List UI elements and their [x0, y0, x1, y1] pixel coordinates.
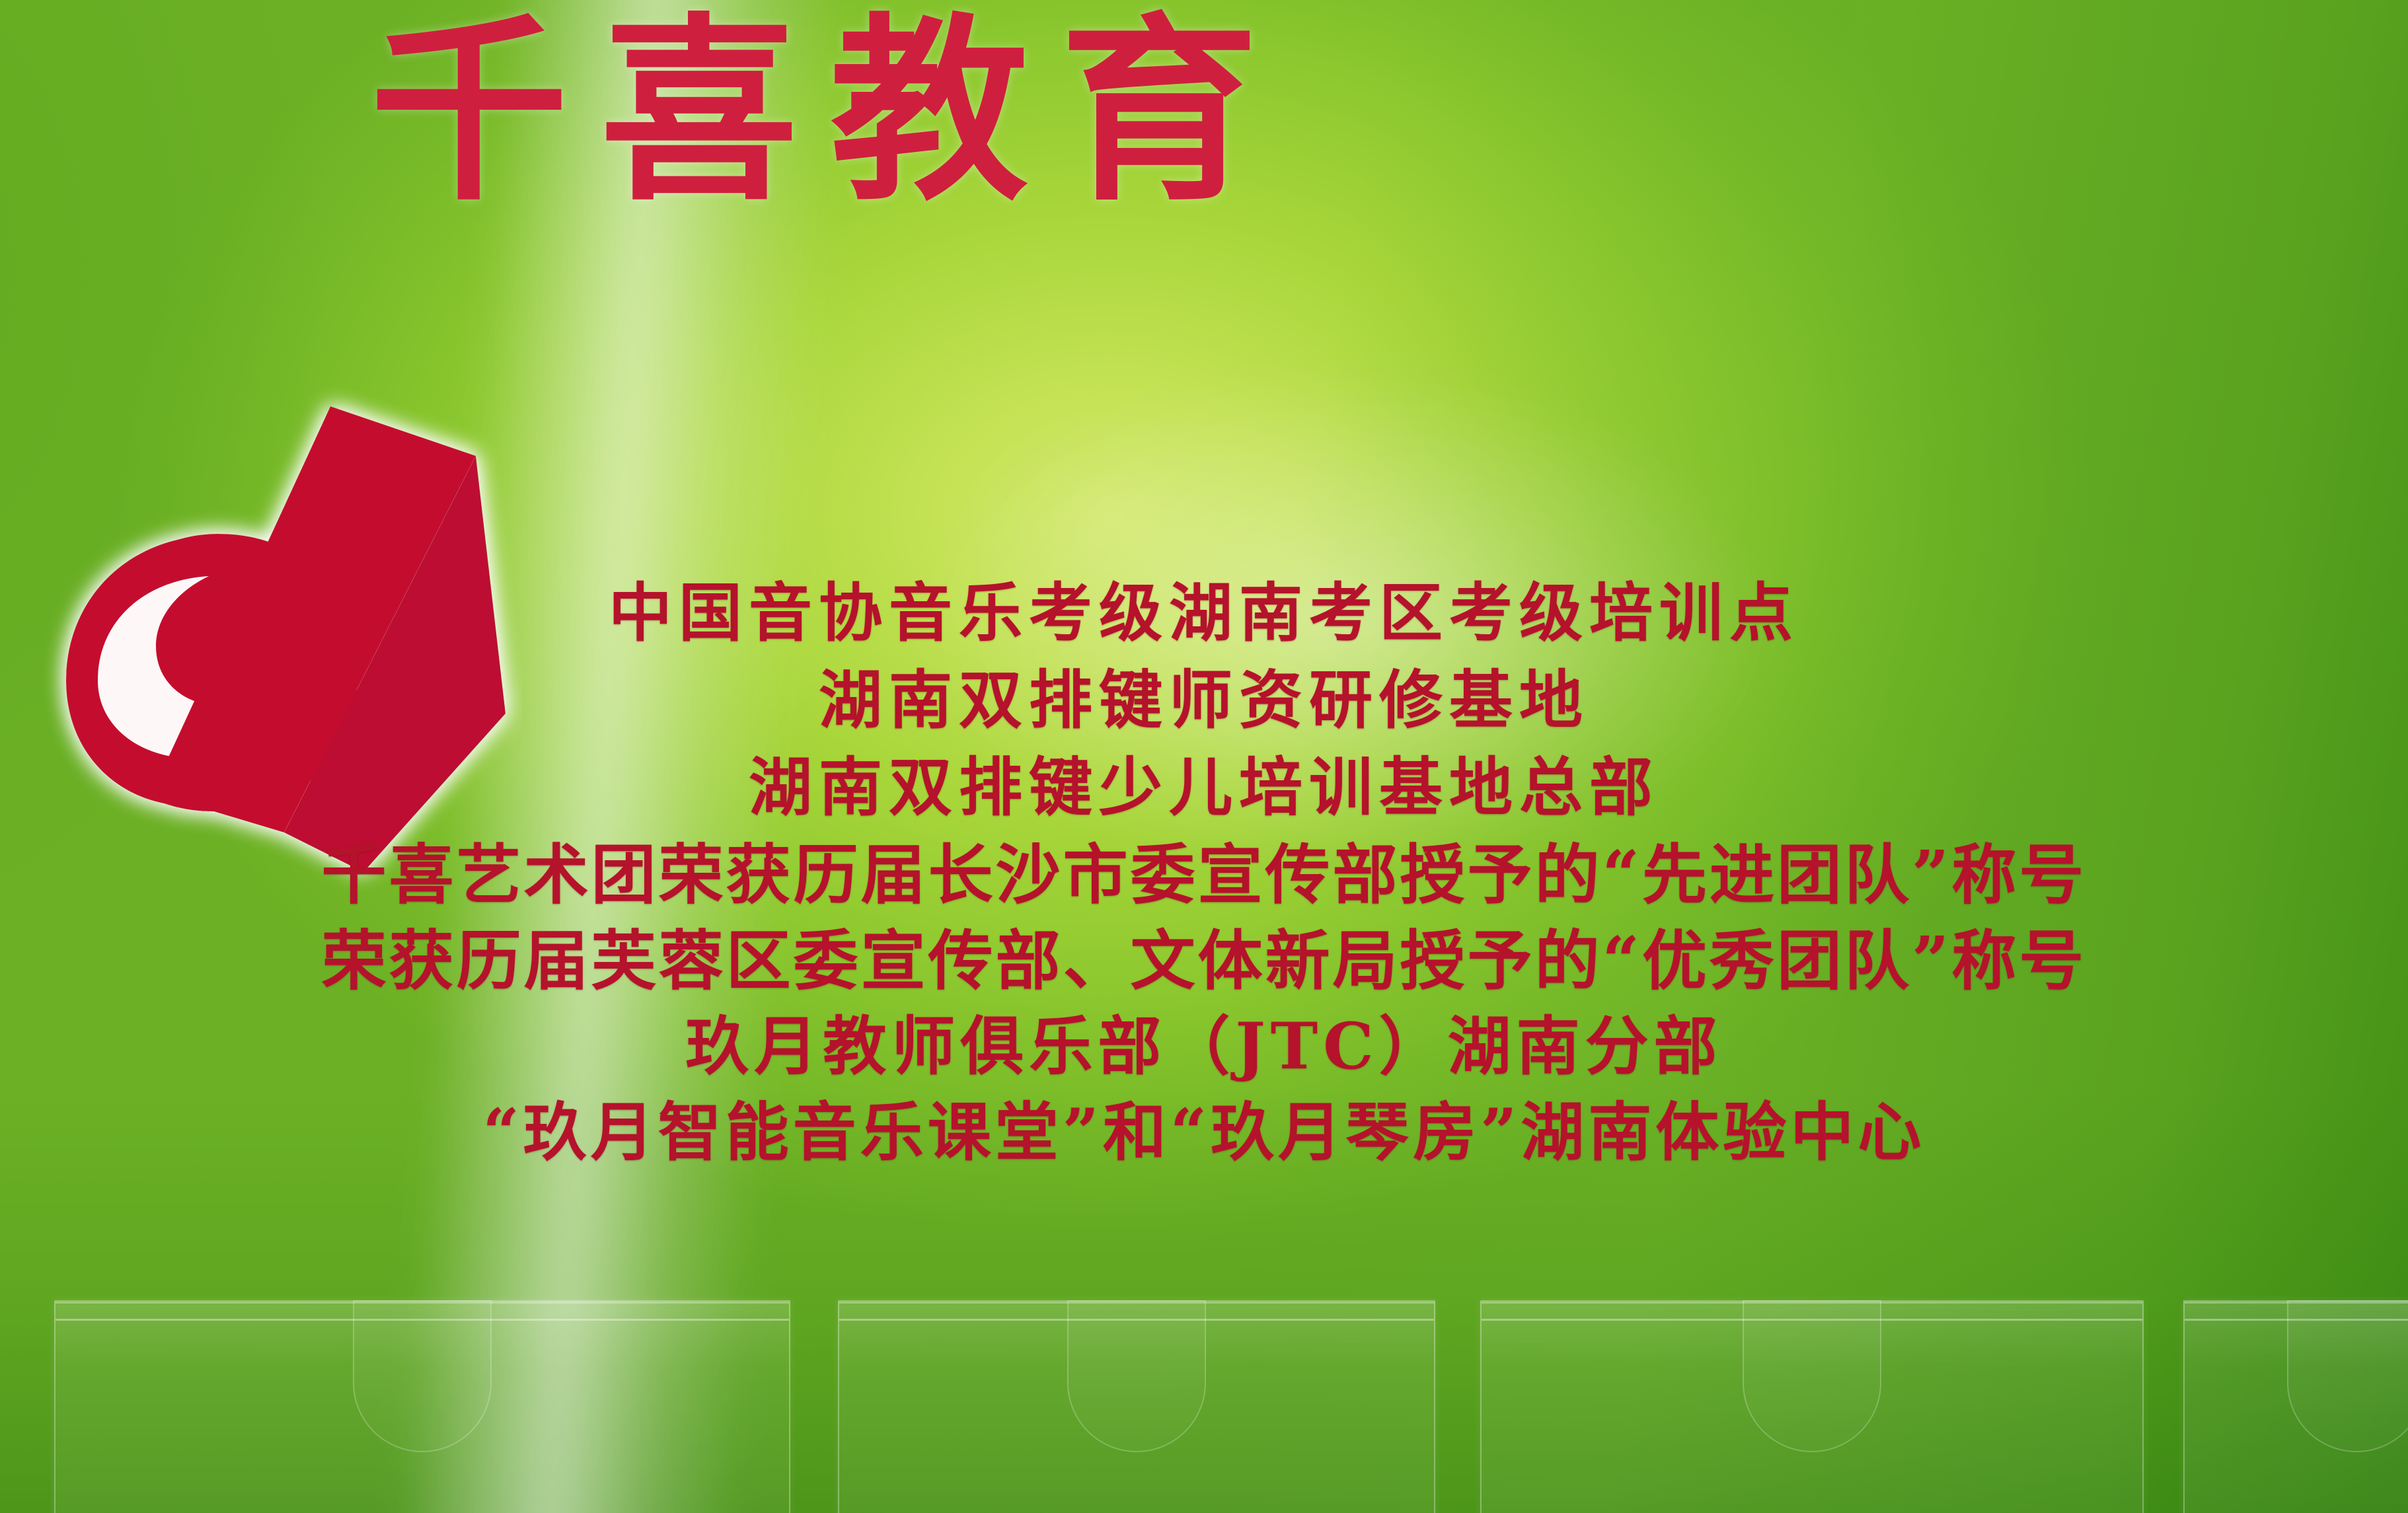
- holder-thumb-notch: [353, 1300, 492, 1452]
- holder-thumb-notch: [1067, 1300, 1206, 1452]
- brochure-holder[interactable]: [1480, 1300, 2144, 1513]
- credential-line: 湖南双排键少儿培训基地总部: [749, 756, 1659, 819]
- brochure-holder[interactable]: [54, 1300, 790, 1513]
- credential-line: 荣获历届芙蓉区委宣传部、文体新局授予的“优秀团队”称号: [322, 929, 2087, 994]
- credential-line: 玖月教师俱乐部（JTC）湖南分部: [685, 1015, 1722, 1078]
- page-title: 千喜教育: [370, 12, 2115, 217]
- credential-list: 中国音协音乐考级湖南考区考级培训点 湖南双排键师资研修基地 湖南双排键少儿培训基…: [0, 581, 2408, 1164]
- signage-photo: 千喜教育 中国音协音乐考级湖南考区考级培训点 湖南双排键师资研修基地 湖南双排键…: [0, 0, 2408, 1513]
- credential-line: 湖南双排键师资研修基地: [819, 669, 1589, 732]
- credential-line: “玖月智能音乐课堂”和“玖月琴房”湖南体验中心: [483, 1101, 1926, 1164]
- holder-thumb-notch: [2287, 1300, 2408, 1452]
- brochure-holder[interactable]: [838, 1300, 1435, 1513]
- brochure-holder-row: [0, 1302, 2408, 1513]
- credential-line: 中国音协音乐考级湖南考区考级培训点: [609, 581, 1799, 645]
- brochure-holder[interactable]: [2183, 1300, 2408, 1513]
- holder-thumb-notch: [1743, 1300, 1881, 1452]
- credential-line: 千喜艺术团荣获历届长沙市委宣传部授予的“先进团队”称号: [322, 843, 2087, 908]
